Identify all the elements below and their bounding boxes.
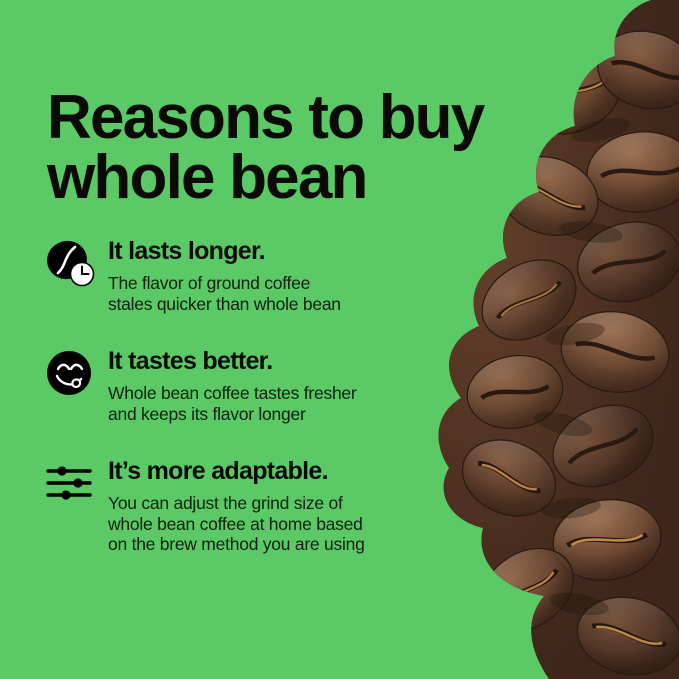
sliders-icon bbox=[45, 459, 97, 507]
feature-body: Whole bean coffee tastes fresher and kee… bbox=[108, 383, 440, 424]
feature-body: You can adjust the grind size of whole b… bbox=[108, 493, 440, 555]
yummy-face-icon bbox=[45, 349, 97, 397]
promo-poster: Reasons to buy whole bean It lasts longe… bbox=[0, 0, 679, 679]
feature-title: It lasts longer. bbox=[108, 237, 440, 266]
list-item: It’s more adaptable. You can adjust the … bbox=[45, 457, 440, 555]
feature-list: It lasts longer. The flavor of ground co… bbox=[45, 237, 440, 555]
feature-title: It tastes better. bbox=[108, 347, 440, 376]
feature-title: It’s more adaptable. bbox=[108, 457, 440, 486]
feature-body: The flavor of ground coffee stales quick… bbox=[108, 273, 440, 314]
content-column: Reasons to buy whole bean It lasts longe… bbox=[0, 0, 440, 679]
list-item: It tastes better. Whole bean coffee tast… bbox=[45, 347, 440, 424]
list-item: It lasts longer. The flavor of ground co… bbox=[45, 237, 440, 314]
page-title: Reasons to buy whole bean bbox=[47, 88, 517, 208]
coffee-bean-clock-icon bbox=[45, 239, 97, 287]
